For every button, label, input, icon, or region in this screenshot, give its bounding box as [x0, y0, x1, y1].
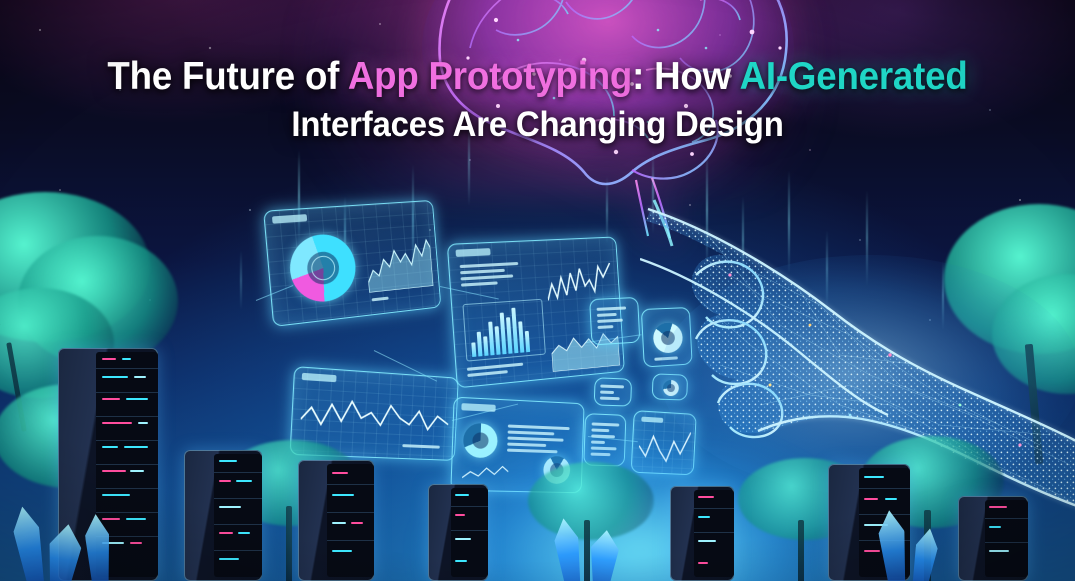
kpi-rows	[597, 306, 631, 329]
panel-text-rows	[460, 262, 524, 287]
rack-led-panel	[214, 454, 262, 577]
hero-banner: The Future of App Prototyping: How AI-Ge…	[0, 0, 1075, 581]
server-rack-center[interactable]	[428, 484, 488, 581]
hologram-tile-a[interactable]	[594, 377, 632, 406]
rack-led-panel	[327, 464, 374, 577]
hologram-panel-donut-area[interactable]	[263, 200, 441, 327]
server-rack-far-right[interactable]	[958, 496, 1028, 581]
hero-title-block: The Future of App Prototyping: How AI-Ge…	[0, 56, 1075, 143]
panel-header-bar	[461, 403, 495, 412]
server-rack-mid-right[interactable]	[670, 486, 734, 581]
server-rack-left-mid[interactable]	[184, 450, 262, 581]
rack-led-panel	[451, 488, 488, 577]
rack-led-panel	[985, 500, 1028, 577]
title-segment-highlight-app-prototyping: App Prototyping	[348, 55, 632, 98]
title-segment-plain-2: : How	[632, 55, 739, 98]
hologram-panel-kpi[interactable]	[589, 297, 640, 346]
hero-title-line-2: Interfaces Are Changing Design	[32, 106, 1043, 143]
title-segment-highlight-ai-generated: AI-Generated	[740, 55, 968, 98]
server-rack-center-left[interactable]	[298, 460, 374, 581]
area-chart-main	[364, 230, 433, 293]
bar-chart-main	[469, 304, 530, 357]
title-segment-plain-1: The Future of	[107, 55, 347, 98]
hero-title-line-1: The Future of App Prototyping: How AI-Ge…	[32, 56, 1043, 97]
tile-rows	[600, 385, 626, 401]
rack-led-panel	[694, 490, 734, 577]
